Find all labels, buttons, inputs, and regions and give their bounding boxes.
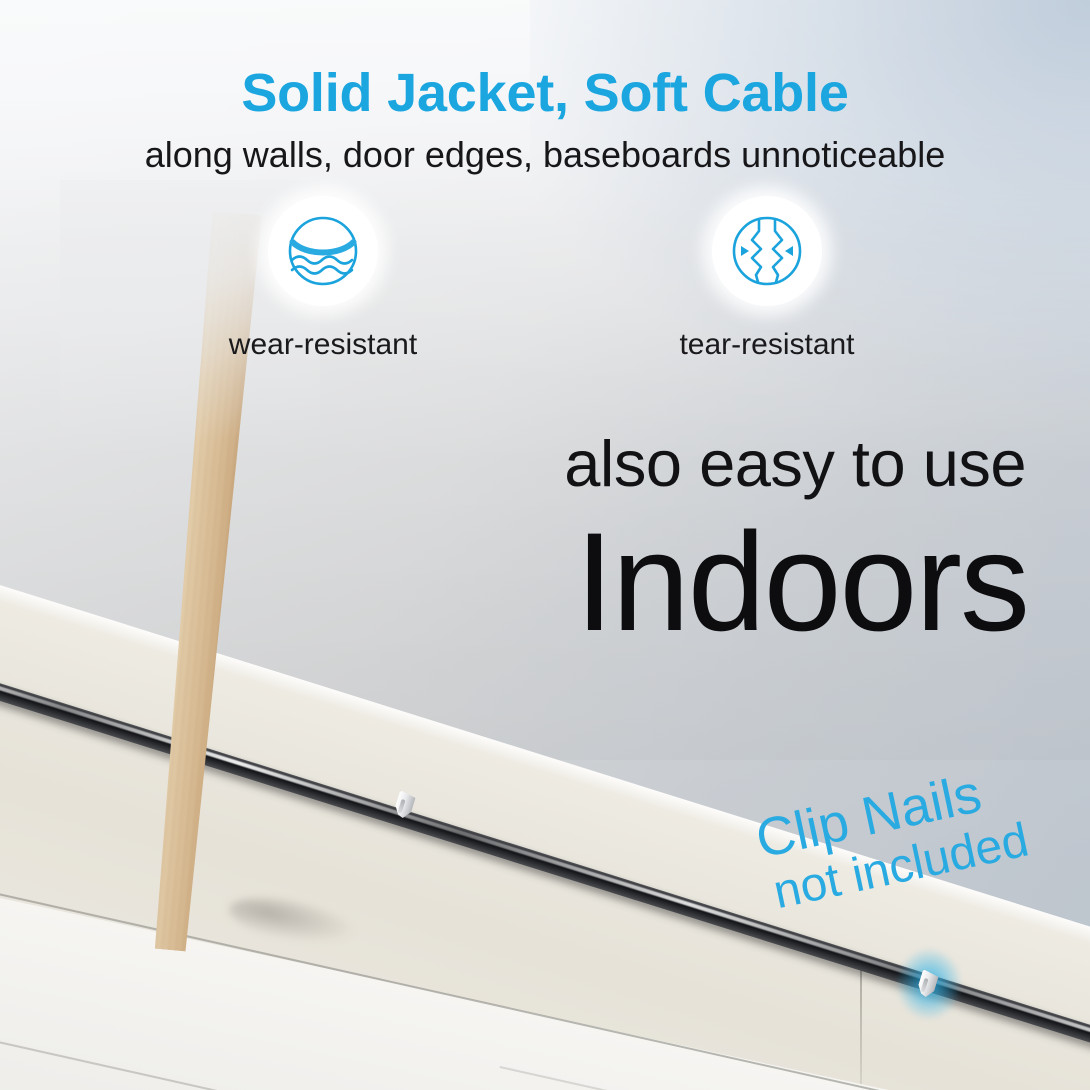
wear-resistant-badge bbox=[268, 196, 378, 306]
headline: Solid Jacket, Soft Cable bbox=[0, 62, 1090, 124]
tear-zigzag-icon bbox=[728, 212, 806, 290]
feature-label: tear-resistant bbox=[679, 328, 854, 362]
wave-circle-icon bbox=[284, 212, 362, 290]
feature-badge-row: wear-resistant tear-resistant bbox=[0, 196, 1090, 362]
tear-resistant-badge bbox=[712, 196, 822, 306]
feature-tear-resistant: tear-resistant bbox=[662, 196, 872, 362]
feature-label: wear-resistant bbox=[229, 328, 417, 362]
promo-bigword: Indoors bbox=[575, 512, 1028, 652]
promo-eyebrow: also easy to use bbox=[564, 426, 1026, 501]
clip-nails-caption: Clip Nails not included bbox=[751, 747, 1087, 920]
subheadline: along walls, door edges, baseboards unno… bbox=[0, 134, 1090, 176]
text-overlay: Solid Jacket, Soft Cable along walls, do… bbox=[0, 0, 1090, 1090]
feature-wear-resistant: wear-resistant bbox=[218, 196, 428, 362]
product-feature-image: Solid Jacket, Soft Cable along walls, do… bbox=[0, 0, 1090, 1090]
